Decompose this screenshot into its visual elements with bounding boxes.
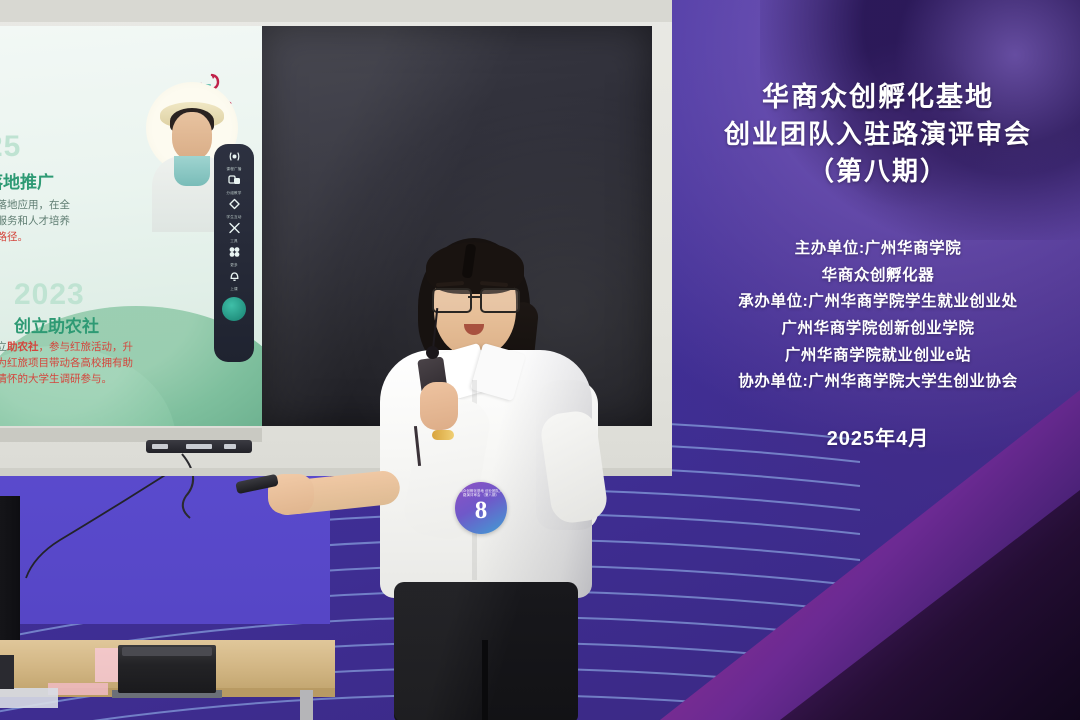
toolbar-item-apps[interactable]: 更多 bbox=[214, 246, 254, 268]
presenter-glasses bbox=[430, 288, 522, 310]
badge-number: 8 bbox=[455, 499, 507, 523]
desk-paper-white bbox=[0, 688, 58, 708]
slide-body-top-1: 术落地应用，在全 bbox=[0, 198, 70, 214]
badge-header-text: 华商众创孵化基地 创业团队入驻路演评审会 （第八期） bbox=[455, 482, 507, 498]
organizer-line-4: 广州华商学院创新创业学院 bbox=[676, 316, 1080, 343]
toolbar-label-tools: 工具 bbox=[230, 239, 238, 244]
control-bar-indicator-2 bbox=[186, 444, 212, 449]
presenter: 华商众创孵化基地 创业团队入驻路演评审会 （第八期） 8 bbox=[360, 230, 630, 720]
control-bar-indicator-3 bbox=[224, 444, 236, 449]
desk-object bbox=[0, 655, 14, 689]
event-text-panel: 华商众创孵化基地 创业团队入驻路演评审会 （第八期） 主办单位:广州华商学院 华… bbox=[676, 0, 1080, 470]
toolbar-label-screen-share: 分组教学 bbox=[226, 191, 241, 196]
presenter-bracelet bbox=[432, 430, 454, 440]
user-avatar[interactable] bbox=[222, 297, 246, 321]
toolbar-label-broadcast: 课程广播 bbox=[226, 167, 241, 172]
wall-cable bbox=[20, 470, 180, 590]
side-monitor bbox=[0, 496, 20, 644]
apps-icon bbox=[228, 246, 241, 262]
student-interaction-icon bbox=[228, 198, 241, 214]
organizer-line-2: 华商众创孵化器 bbox=[676, 263, 1080, 290]
slide-body-bottom-3: 农情怀的大学生调研参与。 bbox=[0, 372, 133, 388]
desk-leg bbox=[300, 690, 313, 720]
toolbar-item-tools[interactable]: 工具 bbox=[214, 222, 254, 244]
organizer-line-6: 协办单位:广州华商学院大学生创业协会 bbox=[676, 369, 1080, 396]
bell-icon bbox=[228, 270, 241, 286]
presentation-room-photo: KEMENG 科 萌 25 落地推广 术落地应用，在全 术服务和人才培养 新路径… bbox=[0, 0, 1080, 720]
glasses-lens-right bbox=[480, 288, 520, 313]
event-date: 2025年4月 bbox=[676, 422, 1080, 451]
toolbar-item-broadcast[interactable]: 课程广播 bbox=[214, 150, 254, 172]
broadcast-icon bbox=[228, 150, 241, 166]
slide-toolbar[interactable]: 课程广播 分组教学 学生互动 工具 bbox=[214, 144, 254, 362]
slide-body-bottom-1: ，参与红旅活动，升 bbox=[39, 341, 134, 353]
slide-body-bottom-2: 级为红旅项目带动各高校拥有助 bbox=[0, 356, 133, 372]
slide-year-top: 25 bbox=[0, 130, 21, 164]
organizer-line-5: 广州华商学院就业创业e站 bbox=[676, 343, 1080, 370]
slide-heading-bottom: 创立助农社 bbox=[14, 312, 99, 337]
glasses-bridge bbox=[468, 296, 480, 298]
screen-share-icon bbox=[228, 174, 241, 190]
tools-icon bbox=[228, 222, 241, 238]
toolbar-item-screen-share[interactable]: 分组教学 bbox=[214, 174, 254, 196]
slide-body-top-2: 术服务和人才培养 bbox=[0, 214, 70, 230]
toolbar-label-apps: 更多 bbox=[230, 263, 238, 268]
presentation-slide: KEMENG 科 萌 25 落地推广 术落地应用，在全 术服务和人才培养 新路径… bbox=[0, 26, 262, 426]
toolbar-item-bell[interactable]: 上课 bbox=[214, 270, 254, 292]
toolbar-item-student-interaction[interactable]: 学生互动 bbox=[214, 198, 254, 220]
slide-heading-top: 落地推广 bbox=[0, 168, 54, 193]
toolbar-label-student-interaction: 学生互动 bbox=[226, 215, 241, 220]
presenter-hand-left bbox=[420, 382, 458, 430]
wall-top-trim bbox=[0, 0, 672, 22]
presenter-pants-seam bbox=[482, 640, 488, 720]
presenter-number-badge: 华商众创孵化基地 创业团队入驻路演评审会 （第八期） 8 bbox=[455, 482, 507, 534]
event-title-line1: 华商众创孵化基地 bbox=[676, 78, 1080, 116]
control-bar-indicator-1 bbox=[152, 444, 168, 449]
slide-body-top-3: 新路径。 bbox=[0, 230, 70, 246]
farmer-collar bbox=[174, 156, 210, 186]
toolbar-label-bell: 上课 bbox=[230, 287, 238, 292]
desk-device-lip bbox=[122, 647, 212, 656]
microphone-capsule-icon bbox=[426, 346, 439, 359]
slide-year-bottom: 2023 bbox=[14, 278, 85, 312]
farmer-face bbox=[172, 112, 212, 160]
event-title-line2: 创业团队入驻路演评审会 bbox=[676, 116, 1080, 153]
event-title-line3: （第八期） bbox=[676, 153, 1080, 190]
slide-body-bottom-pre: 成立 bbox=[0, 341, 7, 353]
slide-body-bottom-em: 助农社 bbox=[7, 341, 39, 353]
organizer-line-3: 承办单位:广州华商学院学生就业创业处 bbox=[676, 289, 1080, 316]
organizer-line-1: 主办单位:广州华商学院 bbox=[676, 236, 1080, 263]
